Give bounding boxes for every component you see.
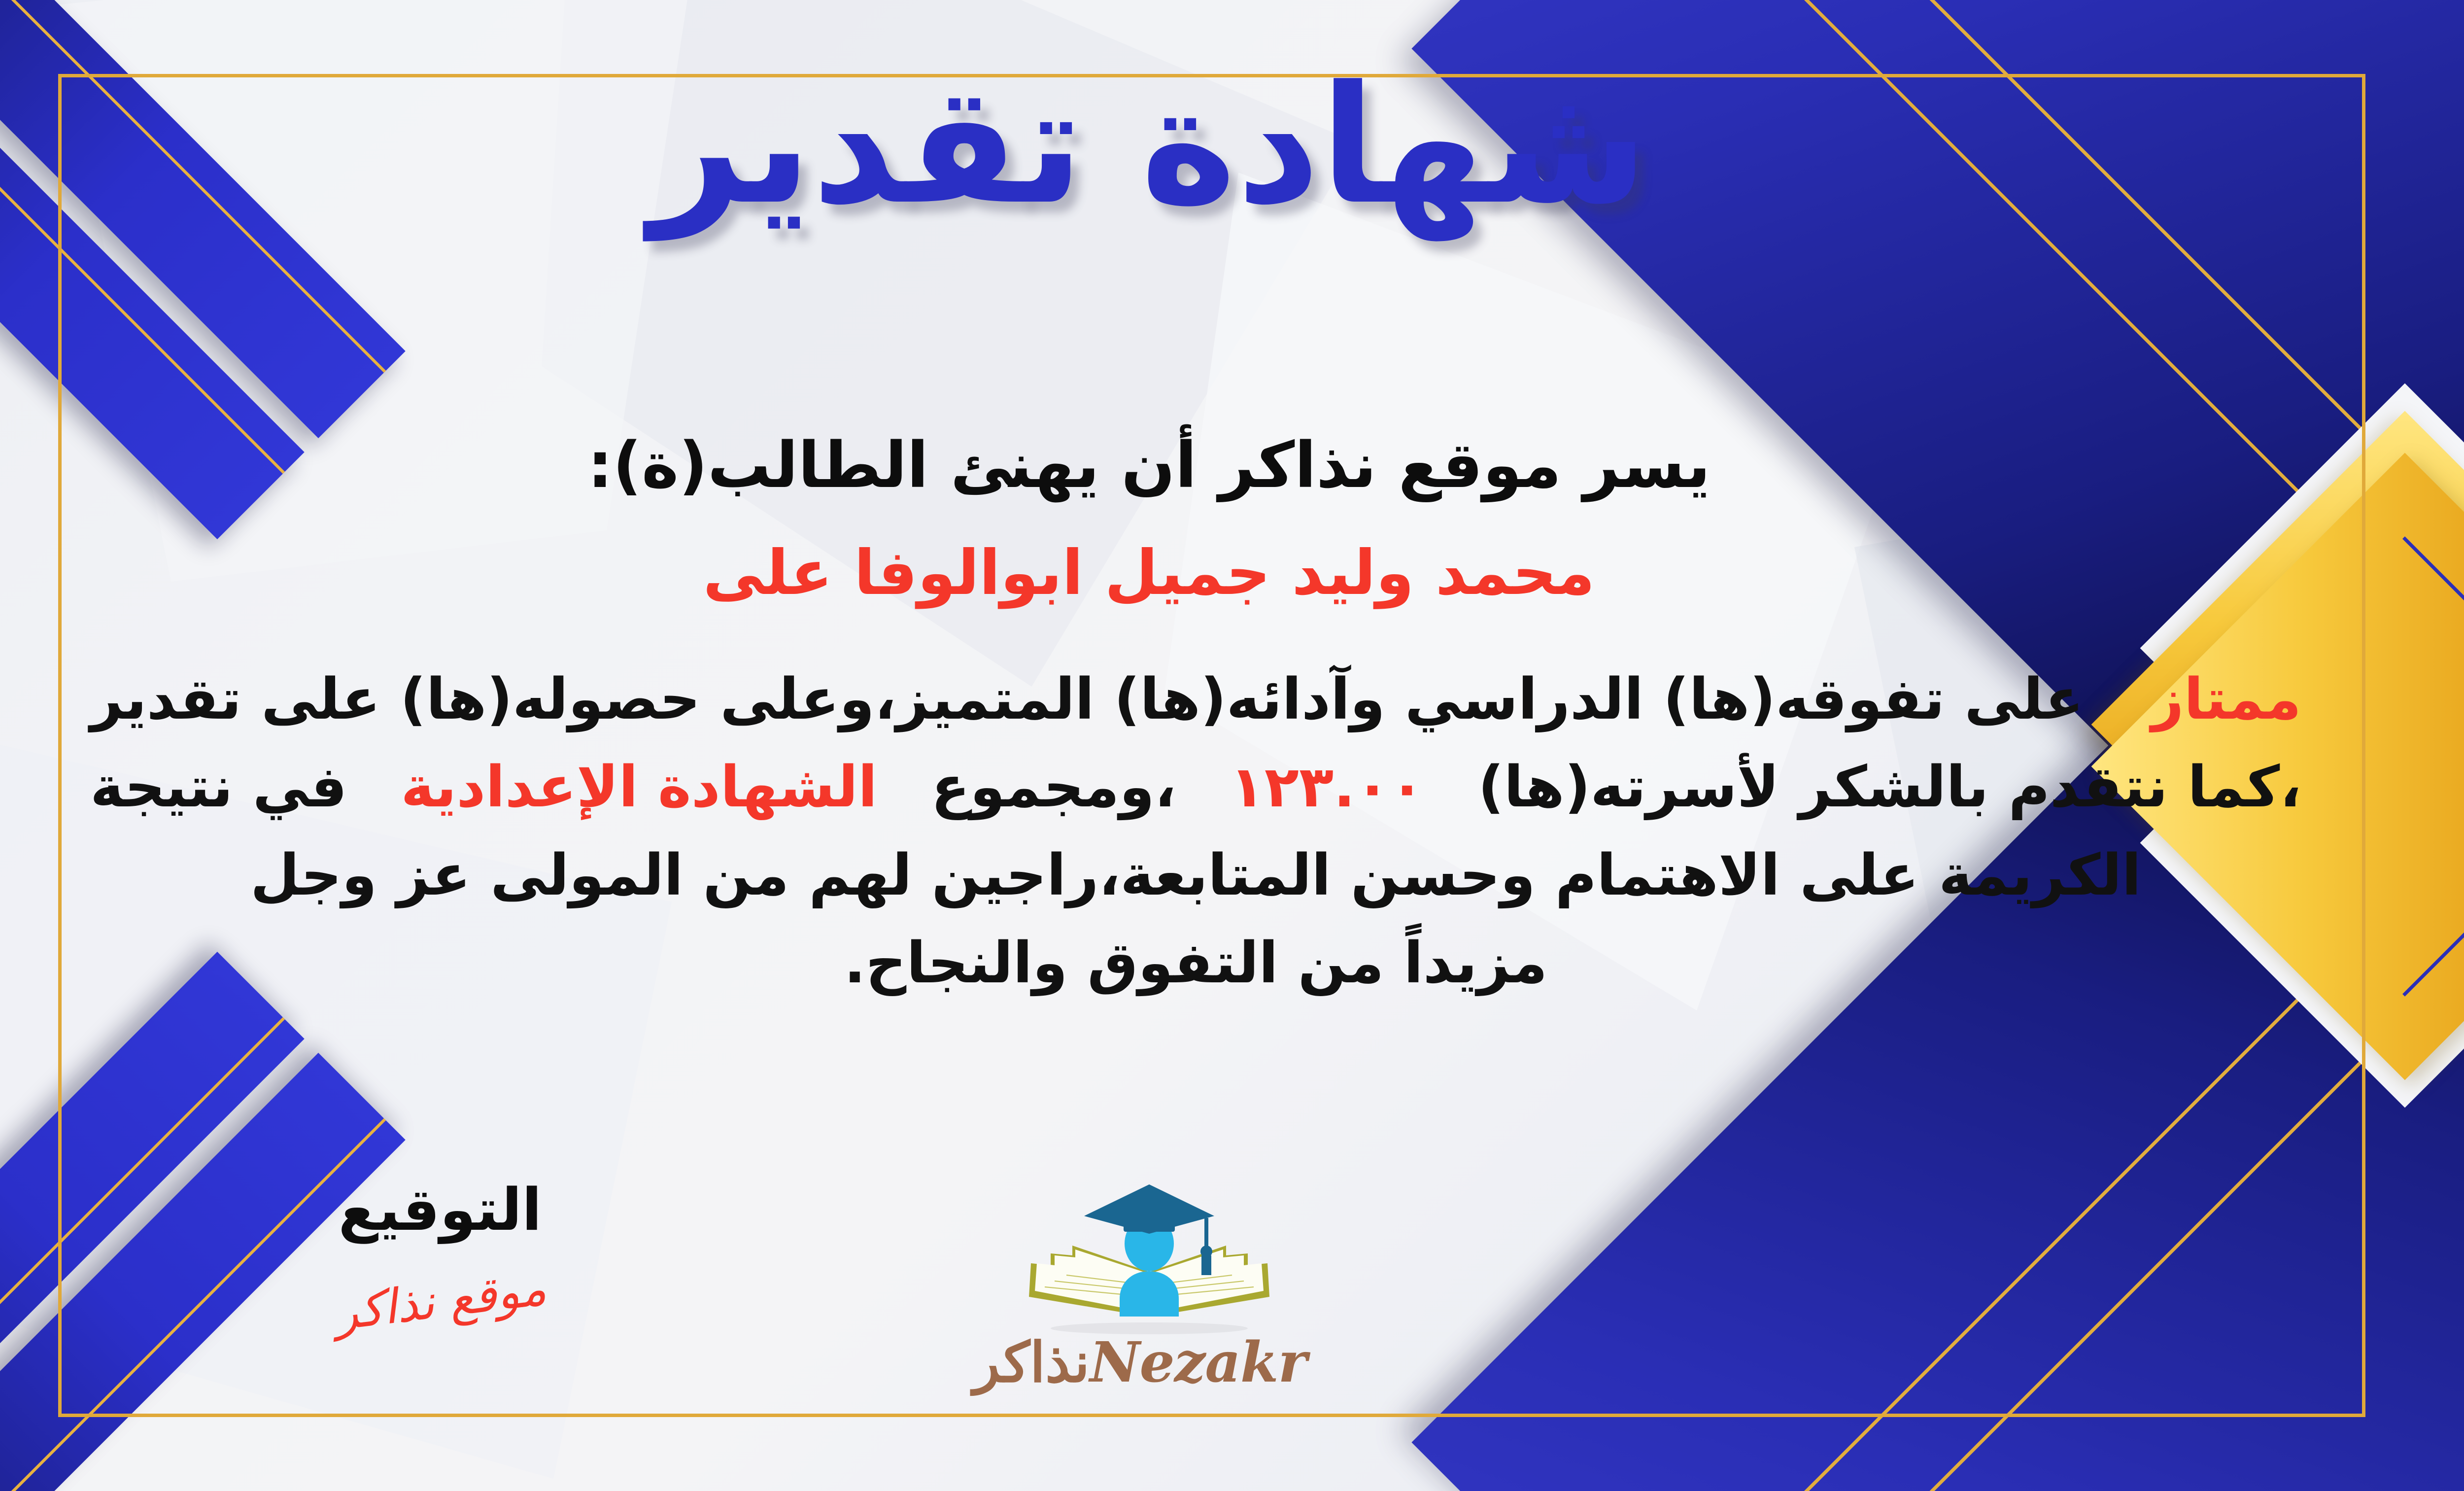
body-line-4: مزيداً من التفوق والنجاح.: [90, 919, 2301, 1007]
body-line-2-mid: ،ومجموع: [931, 743, 1176, 831]
body-line-1-text: على تفوقه(ها) الدراسي وآدائه(ها) المتميز…: [90, 656, 2084, 743]
logo-wordmark: Nezakrنذاكر: [992, 1330, 1307, 1395]
total-score: ١٢٣.٠٠: [1230, 743, 1425, 831]
body-line-2-head: في نتيجة: [90, 743, 347, 831]
exam-name: الشهادة الإعدادية: [401, 743, 877, 831]
logo-latin-text: Nezakr: [1090, 1330, 1306, 1395]
logo-arabic-text: نذاكر: [973, 1330, 1090, 1395]
body-line-1: ممتاز على تفوقه(ها) الدراسي وآدائه(ها) ا…: [90, 656, 2301, 743]
student-name: محمد وليد جميل ابوالوفا على: [0, 537, 2464, 609]
body-line-2-tail: ،كما نتقدم بالشكر لأسرته(ها): [1478, 743, 2301, 831]
certificate-body: ممتاز على تفوقه(ها) الدراسي وآدائه(ها) ا…: [90, 656, 2301, 1007]
signature-block: التوقيع موقع نذاكر: [268, 1176, 613, 1328]
body-line-3: الكريمة على الاهتمام وحسن المتابعة،راجين…: [90, 832, 2301, 919]
body-line-2: ،كما نتقدم بالشكر لأسرته(ها) ١٢٣.٠٠ ،ومج…: [90, 743, 2301, 831]
greeting-text: يسر موقع نذاكر أن يهنئ الطالب(ة):: [0, 429, 2464, 502]
graduate-book-icon: [1021, 1173, 1277, 1335]
signature-script: موقع نذاكر: [331, 1260, 548, 1341]
signature-label: التوقيع: [268, 1176, 613, 1244]
certificate-canvas: شهادة تقدير يسر موقع نذاكر أن يهنئ الطال…: [0, 0, 2464, 1491]
certificate-title: شهادة تقدير: [0, 64, 2464, 227]
grade-value: ممتاز: [2151, 656, 2301, 743]
site-logo: Nezakrنذاكر: [992, 1173, 1307, 1395]
